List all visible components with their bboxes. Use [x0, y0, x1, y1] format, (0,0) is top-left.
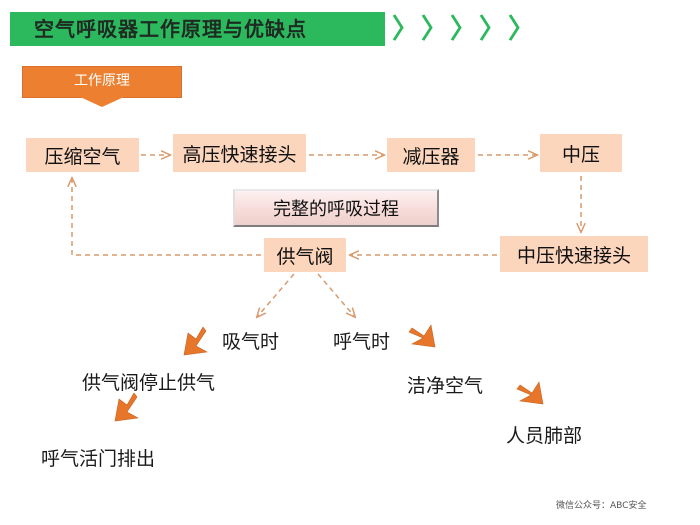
flow-box-medium-pressure: 中压: [540, 134, 622, 172]
section-header-principle: 工作原理: [22, 66, 182, 98]
chevron-right-icon: 〉: [392, 16, 419, 43]
flow-box-compressed-air: 压缩空气: [26, 138, 139, 172]
chevron-right-icon: 〉: [450, 16, 477, 43]
chevron-right-icon: 〉: [508, 16, 535, 43]
footer-watermark: 微信公众号：ABC安全: [556, 498, 646, 511]
bent-arrow-cleanair-down-right: [517, 382, 543, 404]
chevron-right-icon: 〉: [479, 16, 506, 43]
label-exhale-outlet: 呼气活门排出: [41, 444, 155, 471]
bent-arrow-inhale-down-left: [184, 327, 207, 355]
label-lungs: 人员肺部: [506, 421, 582, 448]
flow-box-reducer: 减压器: [387, 138, 475, 172]
flow-box-complete-process: 完整的呼吸过程: [233, 189, 439, 227]
label-clean-air: 洁净空气: [407, 371, 483, 398]
page-title: 空气呼吸器工作原理与优缺点: [34, 14, 384, 45]
bent-arrow-exhale-down-right: [409, 325, 435, 347]
label-inhale: 吸气时: [222, 327, 279, 354]
chevron-right-icon: 〉: [421, 16, 448, 43]
flow-box-mp-coupling: 中压快速接头: [500, 236, 648, 272]
bent-arrow-valvestop-down-left: [115, 393, 138, 421]
arrow-supply-valve-to-exhale: [318, 274, 355, 317]
flow-box-supply-valve: 供气阀: [264, 238, 346, 272]
chevron-down-icon: [78, 96, 126, 107]
arrow-supply-valve-to-inhale: [257, 274, 294, 317]
label-exhale: 呼气时: [333, 327, 390, 354]
label-valve-stop: 供气阀停止供气: [82, 368, 215, 395]
title-chevron-group: 〉 〉 〉 〉 〉: [392, 12, 535, 46]
flow-box-hp-coupling: 高压快速接头: [173, 134, 306, 172]
